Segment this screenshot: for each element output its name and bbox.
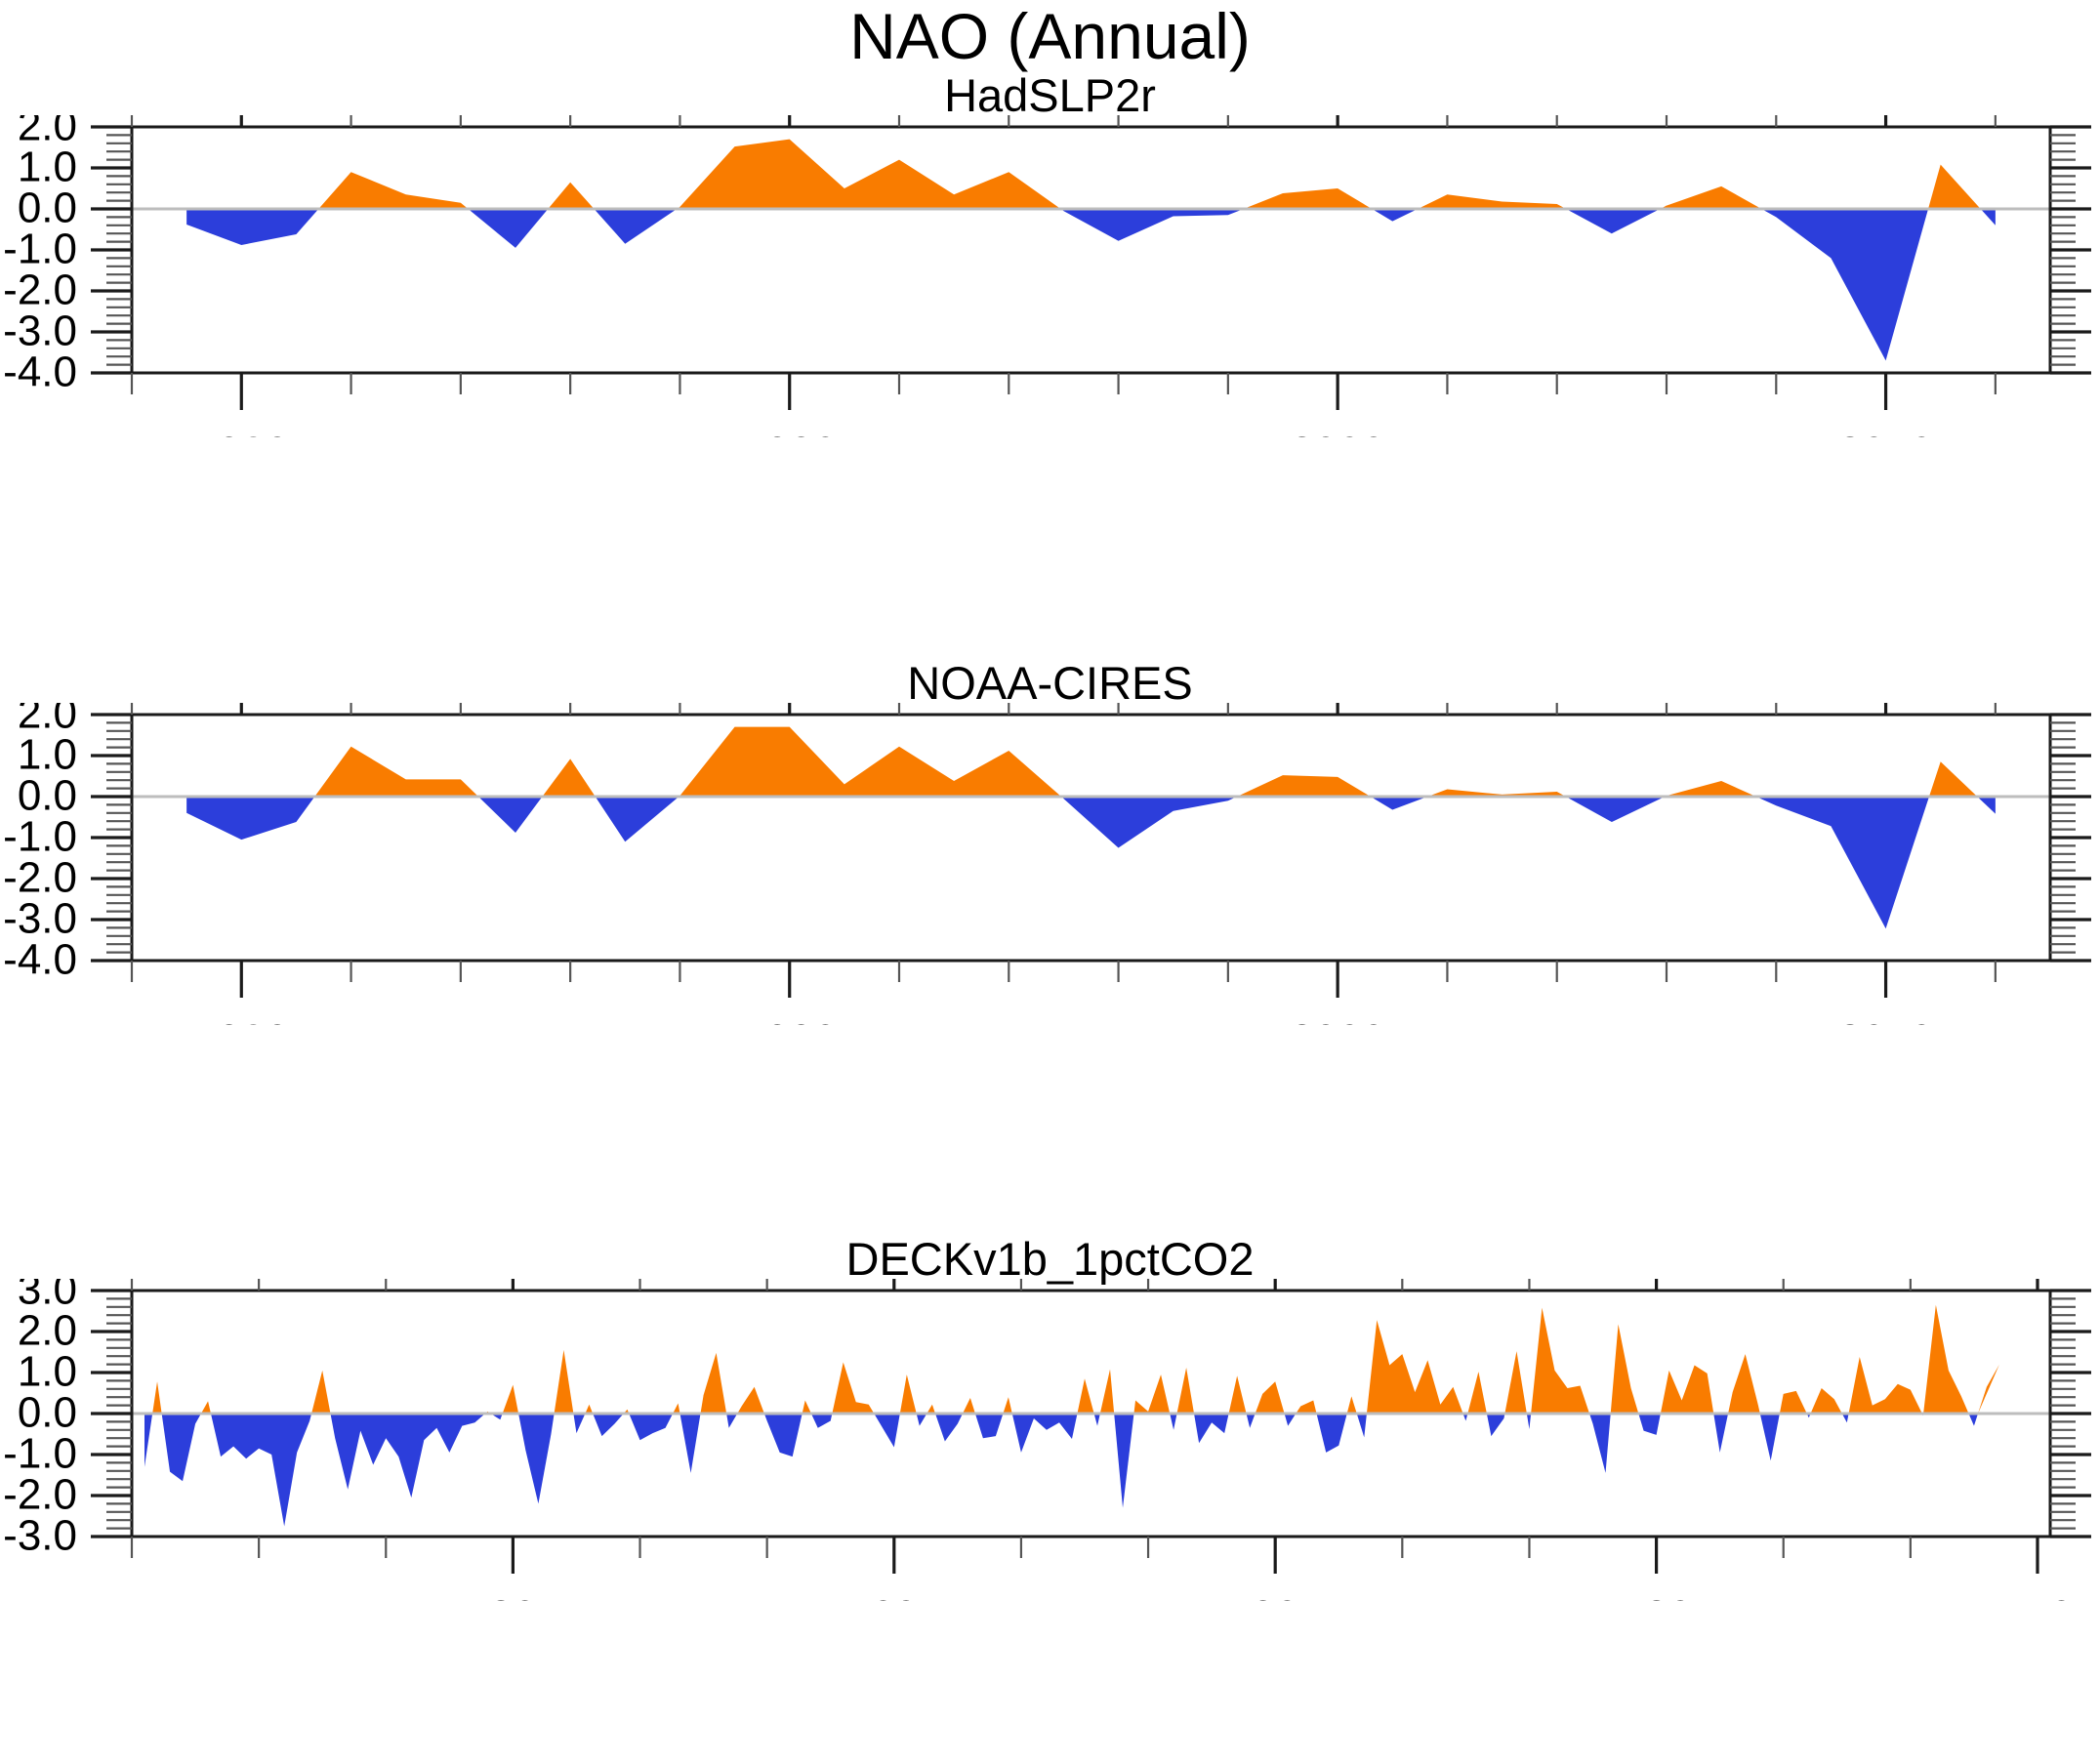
svg-text:120: 120 bbox=[1621, 1592, 1692, 1601]
svg-text:2000: 2000 bbox=[1290, 1016, 1385, 1025]
panel-noaa-cires: NOAA-CIRES 2.01.00.0-1.0-2.0-3.0-4.01980… bbox=[0, 703, 2100, 1025]
svg-text:-4.0: -4.0 bbox=[3, 349, 77, 396]
svg-text:1980: 1980 bbox=[193, 429, 289, 437]
figure-root: NAO (Annual) HadSLP2r 2.01.00.0-1.0-2.0-… bbox=[0, 0, 2100, 1764]
svg-text:-3.0: -3.0 bbox=[3, 1512, 77, 1560]
panel-title-0: HadSLP2r bbox=[0, 72, 2100, 118]
svg-text:1980: 1980 bbox=[193, 1016, 289, 1025]
panel-hadslp2r: HadSLP2r 2.01.00.0-1.0-2.0-3.0-4.0198019… bbox=[0, 115, 2100, 437]
svg-text:1990: 1990 bbox=[742, 1016, 838, 1025]
panel-deckv1b: DECKv1b_1pctCO2 3.02.01.00.0-1.0-2.0-3.0… bbox=[0, 1279, 2100, 1601]
chart-svg-noaa-cires: 2.01.00.0-1.0-2.0-3.0-4.0198019902000201… bbox=[0, 703, 2100, 1025]
chart-svg-hadslp2r: 2.01.00.0-1.0-2.0-3.0-4.0198019902000201… bbox=[0, 115, 2100, 437]
svg-text:2000: 2000 bbox=[1290, 429, 1385, 437]
svg-text:90: 90 bbox=[1252, 1592, 1299, 1601]
svg-text:60: 60 bbox=[870, 1592, 918, 1601]
figure-title: NAO (Annual) bbox=[0, 4, 2100, 68]
svg-text:1990: 1990 bbox=[742, 429, 838, 437]
panel-title-1: NOAA-CIRES bbox=[0, 660, 2100, 706]
svg-text:-4.0: -4.0 bbox=[3, 936, 77, 984]
panel-title-2: DECKv1b_1pctCO2 bbox=[0, 1236, 2100, 1282]
svg-text:150: 150 bbox=[2001, 1592, 2073, 1601]
chart-svg-deckv1b: 3.02.01.00.0-1.0-2.0-3.0306090120150 bbox=[0, 1279, 2100, 1601]
svg-text:2010: 2010 bbox=[1838, 429, 1934, 437]
svg-text:30: 30 bbox=[489, 1592, 537, 1601]
svg-text:2010: 2010 bbox=[1838, 1016, 1934, 1025]
